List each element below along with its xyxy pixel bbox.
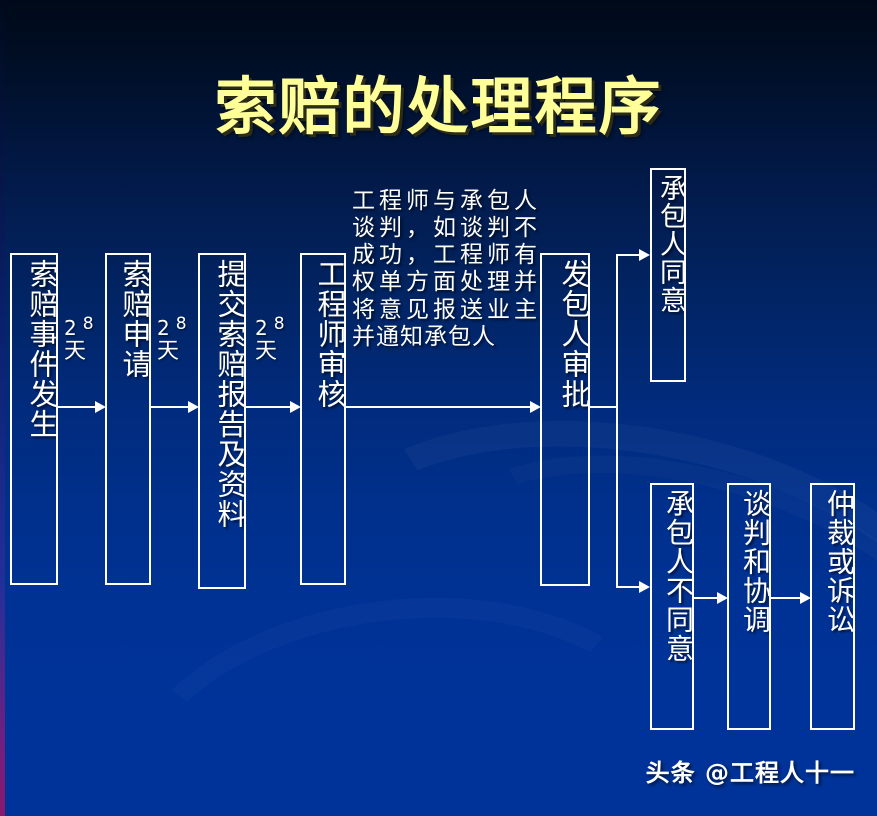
duration-digit: 2 bbox=[64, 316, 77, 340]
duration-label-1: 28 天 bbox=[64, 318, 88, 363]
duration-digit: 8 bbox=[83, 314, 94, 334]
connector-line bbox=[151, 406, 191, 408]
connector-arrowhead bbox=[717, 592, 728, 604]
flow-box-claim-event[interactable]: 索赔事件发生 bbox=[10, 253, 58, 585]
flow-box-arbitration-litigation[interactable]: 仲裁或诉讼 bbox=[810, 483, 855, 730]
connector-line bbox=[58, 406, 98, 408]
decorative-swoosh bbox=[101, 567, 698, 816]
watermark-credit: 头条 @工程人十一 bbox=[646, 753, 855, 788]
duration-digit: 2 bbox=[255, 316, 268, 340]
duration-label-3: 28 天 bbox=[255, 318, 279, 363]
connector-arrowhead bbox=[639, 249, 650, 261]
connector-line bbox=[346, 406, 533, 408]
process-annotation: 工程师与承包人谈判，如谈判不成功，工程师有权单方面处理并将意见报送业主并通知承包… bbox=[352, 188, 538, 351]
duration-unit: 天 bbox=[255, 341, 279, 363]
connector-arrowhead bbox=[800, 592, 811, 604]
flow-box-submit-report[interactable]: 提交索赔报告及资料 bbox=[198, 253, 246, 589]
branch-stem-line bbox=[590, 406, 618, 408]
flow-box-negotiation-coordination[interactable]: 谈判和协调 bbox=[727, 483, 771, 730]
connector-arrowhead bbox=[95, 401, 106, 413]
duration-digit: 8 bbox=[274, 314, 285, 334]
slide-canvas: 索赔的处理程序 索赔事件发生 索赔申请 提交索赔报告及资料 工程师审核 发包人审… bbox=[0, 0, 877, 816]
page-title: 索赔的处理程序 bbox=[0, 56, 877, 146]
duration-digit: 2 bbox=[157, 316, 170, 340]
connector-arrowhead bbox=[290, 401, 301, 413]
flow-box-engineer-review[interactable]: 工程师审核 bbox=[300, 253, 346, 585]
connector-line bbox=[246, 406, 293, 408]
connector-arrowhead bbox=[639, 581, 650, 593]
flow-box-employer-approval[interactable]: 发包人审批 bbox=[540, 253, 590, 586]
duration-unit: 天 bbox=[157, 341, 181, 363]
duration-label-2: 28 天 bbox=[157, 318, 181, 363]
flow-box-contractor-disagrees[interactable]: 承包人不同意 bbox=[650, 483, 694, 730]
duration-unit: 天 bbox=[64, 341, 88, 363]
connector-arrowhead bbox=[188, 401, 199, 413]
flow-box-claim-application[interactable]: 索赔申请 bbox=[105, 253, 151, 585]
connector-arrowhead bbox=[530, 401, 541, 413]
branch-spine-line bbox=[616, 254, 618, 587]
flow-box-contractor-agrees[interactable]: 承包人同意 bbox=[650, 168, 686, 382]
duration-digit: 8 bbox=[176, 314, 187, 334]
